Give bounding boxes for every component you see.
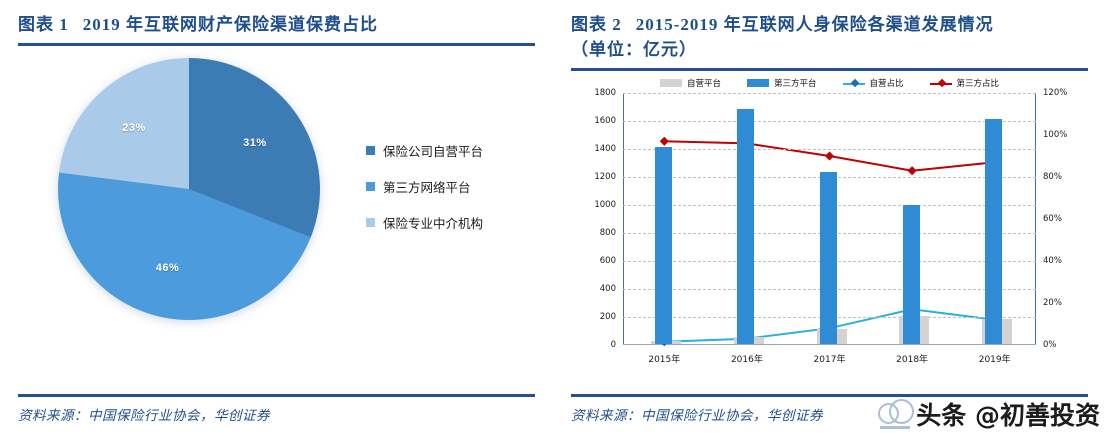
y-axis-tick-right: 20% xyxy=(1043,298,1062,308)
y-axis-tick-left: 1800 xyxy=(594,88,616,98)
legend-bar-icon-gray xyxy=(660,79,682,87)
watermark: 头条 @初善投资 xyxy=(878,396,1100,432)
figure-1-source: 资料来源：中国保险行业协会，华创证券 xyxy=(18,397,535,424)
bar-third-party[interactable] xyxy=(737,109,754,344)
y-axis-tick-left: 1000 xyxy=(594,200,616,210)
y-axis-tick-left: 1400 xyxy=(594,144,616,154)
figure-2-title-sub: （单位：亿元） xyxy=(571,37,1088,62)
y-axis-tick-left: 400 xyxy=(600,284,616,294)
pie-legend-label-2: 保险专业中介机构 xyxy=(383,213,483,232)
figure-1-footer: 资料来源：中国保险行业协会，华创证券 xyxy=(18,394,535,424)
bar-third-party[interactable] xyxy=(655,147,672,344)
bar-third-party[interactable] xyxy=(820,172,837,344)
pie-legend-item-1[interactable]: 第三方网络平台 xyxy=(366,177,483,196)
legend-swatch-icon-2 xyxy=(366,218,375,227)
bar-legend-label-1: 第三方平台 xyxy=(774,77,817,89)
figure-2-panel: 图表 22015-2019 年互联网人身保险各渠道发展情况 （单位：亿元） 自营… xyxy=(553,0,1106,434)
y-axis-tick-right: 0% xyxy=(1043,340,1057,350)
gridline xyxy=(623,121,1036,122)
bar-legend-label-0: 自营平台 xyxy=(687,77,721,89)
pie-legend-item-2[interactable]: 保险专业中介机构 xyxy=(366,213,483,232)
x-axis-tick: 2015年 xyxy=(648,352,680,365)
pie-slice-label-0: 31% xyxy=(243,137,267,149)
pie-legend: 保险公司自营平台 第三方网络平台 保险专业中介机构 xyxy=(366,141,483,249)
x-axis-tick: 2018年 xyxy=(896,352,928,365)
y-axis-tick-right: 40% xyxy=(1043,256,1062,266)
y-axis-tick-left: 200 xyxy=(600,312,616,322)
bar-legend-item-0[interactable]: 自营平台 xyxy=(660,77,721,89)
figure-2-top-rule xyxy=(571,68,1088,71)
gridline xyxy=(623,93,1036,94)
y-axis-tick-right: 60% xyxy=(1043,214,1062,224)
bar-line-chart-area: 自营平台 第三方平台 自营占比 第三方占比 xyxy=(571,73,1088,373)
line-marker xyxy=(660,137,669,146)
y-axis-tick-right: 100% xyxy=(1043,130,1067,140)
bar-legend-label-2: 自营占比 xyxy=(870,77,904,89)
pie-slice-label-2: 23% xyxy=(122,122,146,134)
bar-third-party[interactable] xyxy=(985,119,1002,344)
x-axis-tick: 2016年 xyxy=(731,352,763,365)
y-axis-tick-left: 1600 xyxy=(594,116,616,126)
y-axis-tick-left: 600 xyxy=(600,256,616,266)
x-axis-tick: 2017年 xyxy=(814,352,846,365)
bar-third-party[interactable] xyxy=(903,205,920,344)
bar-chart-plot: 0200400600800100012001400160018000%20%40… xyxy=(623,93,1036,345)
x-axis-tick: 2019年 xyxy=(979,352,1011,365)
figure-2-title: 图表 22015-2019 年互联网人身保险各渠道发展情况 （单位：亿元） xyxy=(571,0,1088,62)
toutiao-logo-icon xyxy=(878,397,912,431)
pie-legend-item-0[interactable]: 保险公司自营平台 xyxy=(366,141,483,160)
figure-2-title-text: 2015-2019 年互联网人身保险各渠道发展情况 xyxy=(636,15,994,34)
pie-chart xyxy=(58,58,320,320)
figure-1-title: 图表 12019 年互联网财产保险渠道保费占比 xyxy=(18,0,535,37)
line-marker xyxy=(908,166,917,175)
line-marker xyxy=(825,151,834,160)
legend-bar-icon-blue xyxy=(747,79,769,87)
bar-chart-legend: 自营平台 第三方平台 自营占比 第三方占比 xyxy=(623,75,1036,91)
bar-legend-label-3: 第三方占比 xyxy=(957,77,1000,89)
legend-line-icon-red xyxy=(930,79,952,87)
y-axis-tick-left: 0 xyxy=(611,340,616,350)
report-page: 图表 12019 年互联网财产保险渠道保费占比 31% 46% 23% 保险公司… xyxy=(0,0,1106,434)
pie-legend-label-0: 保险公司自营平台 xyxy=(383,141,483,160)
figure-2-number: 图表 2 xyxy=(571,15,622,34)
pie-chart-area: 31% 46% 23% 保险公司自营平台 第三方网络平台 保险专业中介机构 xyxy=(18,46,535,346)
y-axis-tick-left: 800 xyxy=(600,228,616,238)
figure-1-title-text: 2019 年互联网财产保险渠道保费占比 xyxy=(83,15,378,34)
legend-swatch-icon-0 xyxy=(366,146,375,155)
gridline xyxy=(623,149,1036,150)
bar-legend-item-1[interactable]: 第三方平台 xyxy=(747,77,817,89)
bar-legend-item-3[interactable]: 第三方占比 xyxy=(930,77,1000,89)
pie-slice-label-1: 46% xyxy=(156,262,180,274)
legend-line-icon-cyan xyxy=(843,79,865,87)
bar-legend-item-2[interactable]: 自营占比 xyxy=(843,77,904,89)
y-axis-tick-left: 1200 xyxy=(594,172,616,182)
legend-swatch-icon-1 xyxy=(366,182,375,191)
pie-legend-label-1: 第三方网络平台 xyxy=(383,177,471,196)
figure-1-panel: 图表 12019 年互联网财产保险渠道保费占比 31% 46% 23% 保险公司… xyxy=(0,0,553,434)
y-axis-tick-right: 80% xyxy=(1043,172,1062,182)
figure-1-number: 图表 1 xyxy=(18,15,69,34)
y-axis-tick-right: 120% xyxy=(1043,88,1067,98)
watermark-text: 头条 @初善投资 xyxy=(916,396,1100,432)
